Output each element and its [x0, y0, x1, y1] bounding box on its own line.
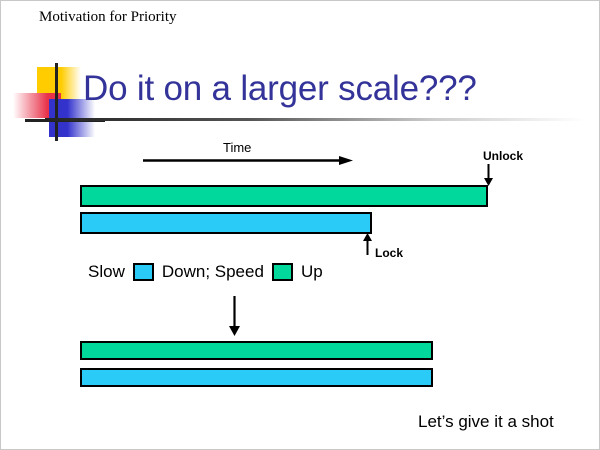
title-underline-rule [45, 118, 585, 121]
lock-up-arrow-icon [363, 233, 372, 255]
slide-footer-note: Let’s give it a shot [418, 412, 554, 432]
slide-title: Do it on a larger scale??? [83, 69, 477, 109]
transition-down-arrow-icon [228, 296, 241, 336]
legend-text-up: Up [301, 262, 323, 282]
top-cyan-bar [80, 212, 372, 234]
speed-up-color-swatch [272, 263, 293, 281]
legend-text-down-speed: Down; Speed [162, 262, 264, 282]
time-axis-arrow-icon [143, 156, 353, 165]
slow-down-color-swatch [133, 263, 154, 281]
bottom-green-bar [80, 341, 433, 360]
legend: Slow Down; Speed Up [88, 260, 323, 284]
time-axis-label: Time [223, 140, 251, 155]
unlock-down-arrow-icon [484, 164, 493, 186]
slide-canvas: Motivation for Priority Do it on a large… [0, 0, 600, 450]
logo-vertical-rule-icon [55, 63, 58, 141]
legend-text-slow: Slow [88, 262, 125, 282]
lock-annotation-label: Lock [375, 246, 403, 260]
unlock-annotation-label: Unlock [483, 149, 523, 163]
slide-header-note: Motivation for Priority [39, 9, 177, 26]
bottom-cyan-bar [80, 368, 433, 387]
top-green-bar [80, 185, 488, 207]
